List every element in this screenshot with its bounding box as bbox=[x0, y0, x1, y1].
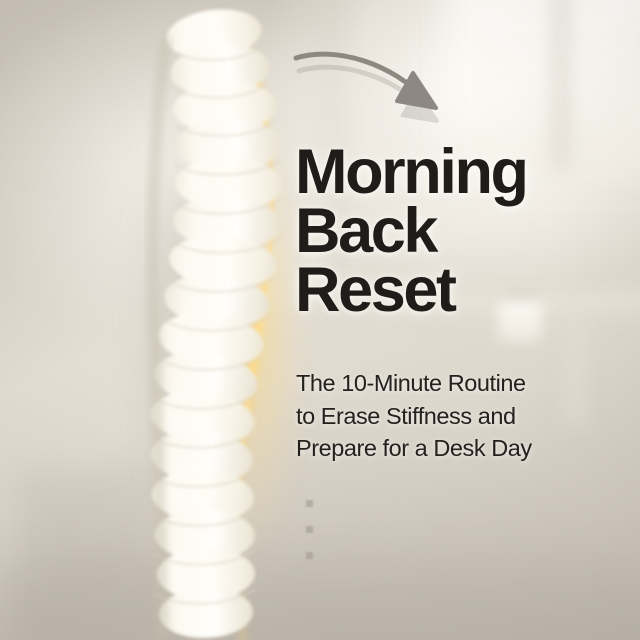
dot-marker-2 bbox=[306, 526, 313, 533]
subtitle-line-3: Prepare for a Desk Day bbox=[296, 432, 596, 465]
curved-arrow-icon bbox=[288, 28, 468, 128]
page-subtitle: The 10-Minute Routine to Erase Stiffness… bbox=[296, 367, 596, 465]
poster-canvas: Morning Back Reset The 10-Minute Routine… bbox=[0, 0, 640, 640]
headline-line-1: Morning bbox=[295, 143, 635, 202]
three-square-dot-markers bbox=[306, 500, 313, 559]
headline-line-2: Back bbox=[295, 202, 635, 261]
dot-marker-1 bbox=[306, 500, 313, 507]
page-title: Morning Back Reset bbox=[295, 143, 635, 320]
dot-marker-3 bbox=[306, 552, 313, 559]
headline-line-3: Reset bbox=[295, 261, 635, 320]
subtitle-line-1: The 10-Minute Routine bbox=[296, 367, 596, 400]
subtitle-line-2: to Erase Stiffness and bbox=[296, 400, 596, 433]
arrow-annotation bbox=[288, 28, 468, 128]
